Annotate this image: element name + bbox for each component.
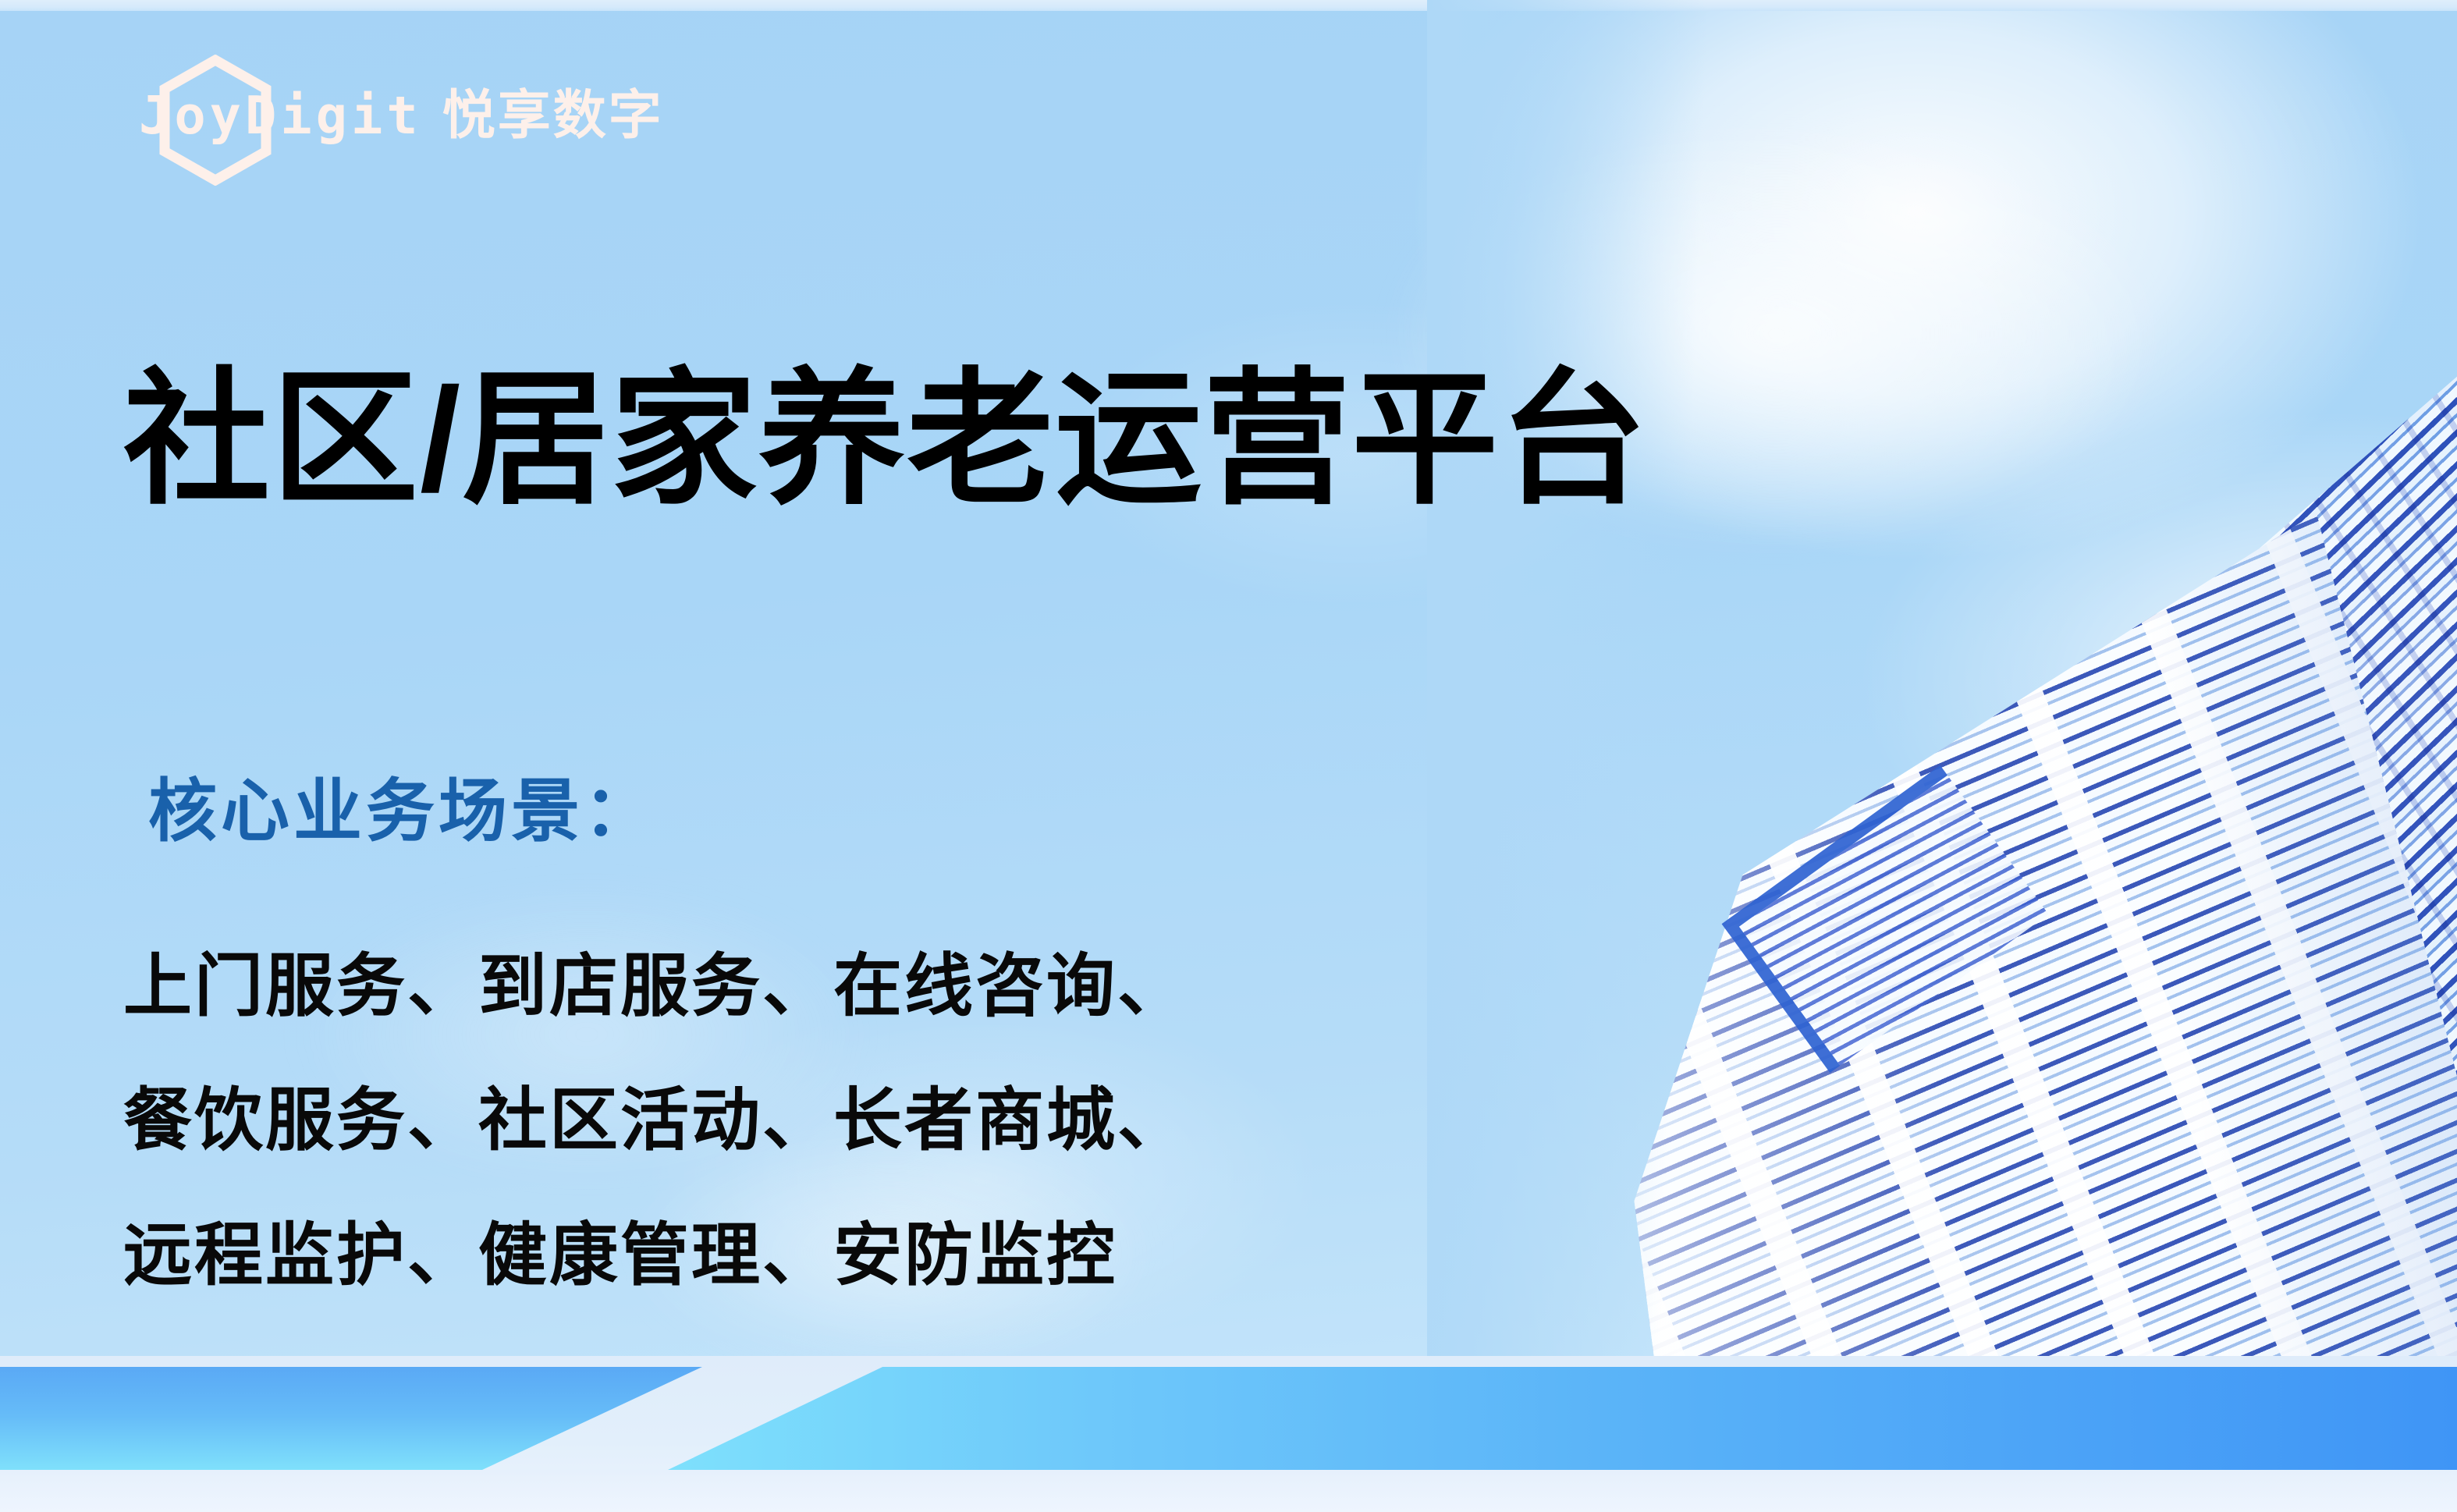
logo-chinese-name: 悦享数字 [442, 89, 664, 142]
scenario-line: 远程监护、健康管理、安防监控 [123, 1188, 1188, 1322]
skyscraper-artwork [1427, 0, 2457, 1397]
slide-canvas: JoyDigit 悦享数字 社区/居家养老运营平台 核心业务场景： 上门服务、到… [0, 0, 2457, 1512]
brand-logo: JoyDigit 悦享数字 [139, 72, 664, 159]
page-title: 社区/居家养老运营平台 [123, 360, 1648, 519]
scenario-line: 餐饮服务、社区活动、长者商城、 [123, 1053, 1188, 1187]
band-parallelogram-right [668, 1367, 2457, 1470]
section-heading: 核心业务场景： [148, 774, 656, 850]
band-parallelogram-left [0, 1367, 702, 1470]
scenario-list: 上门服务、到店服务、在线咨询、 餐饮服务、社区活动、长者商城、 远程监护、健康管… [123, 919, 1188, 1322]
scenario-line: 上门服务、到店服务、在线咨询、 [123, 919, 1188, 1053]
logo-wordmark: JoyDigit [139, 90, 422, 142]
bottom-edge-strip [0, 1470, 2457, 1512]
